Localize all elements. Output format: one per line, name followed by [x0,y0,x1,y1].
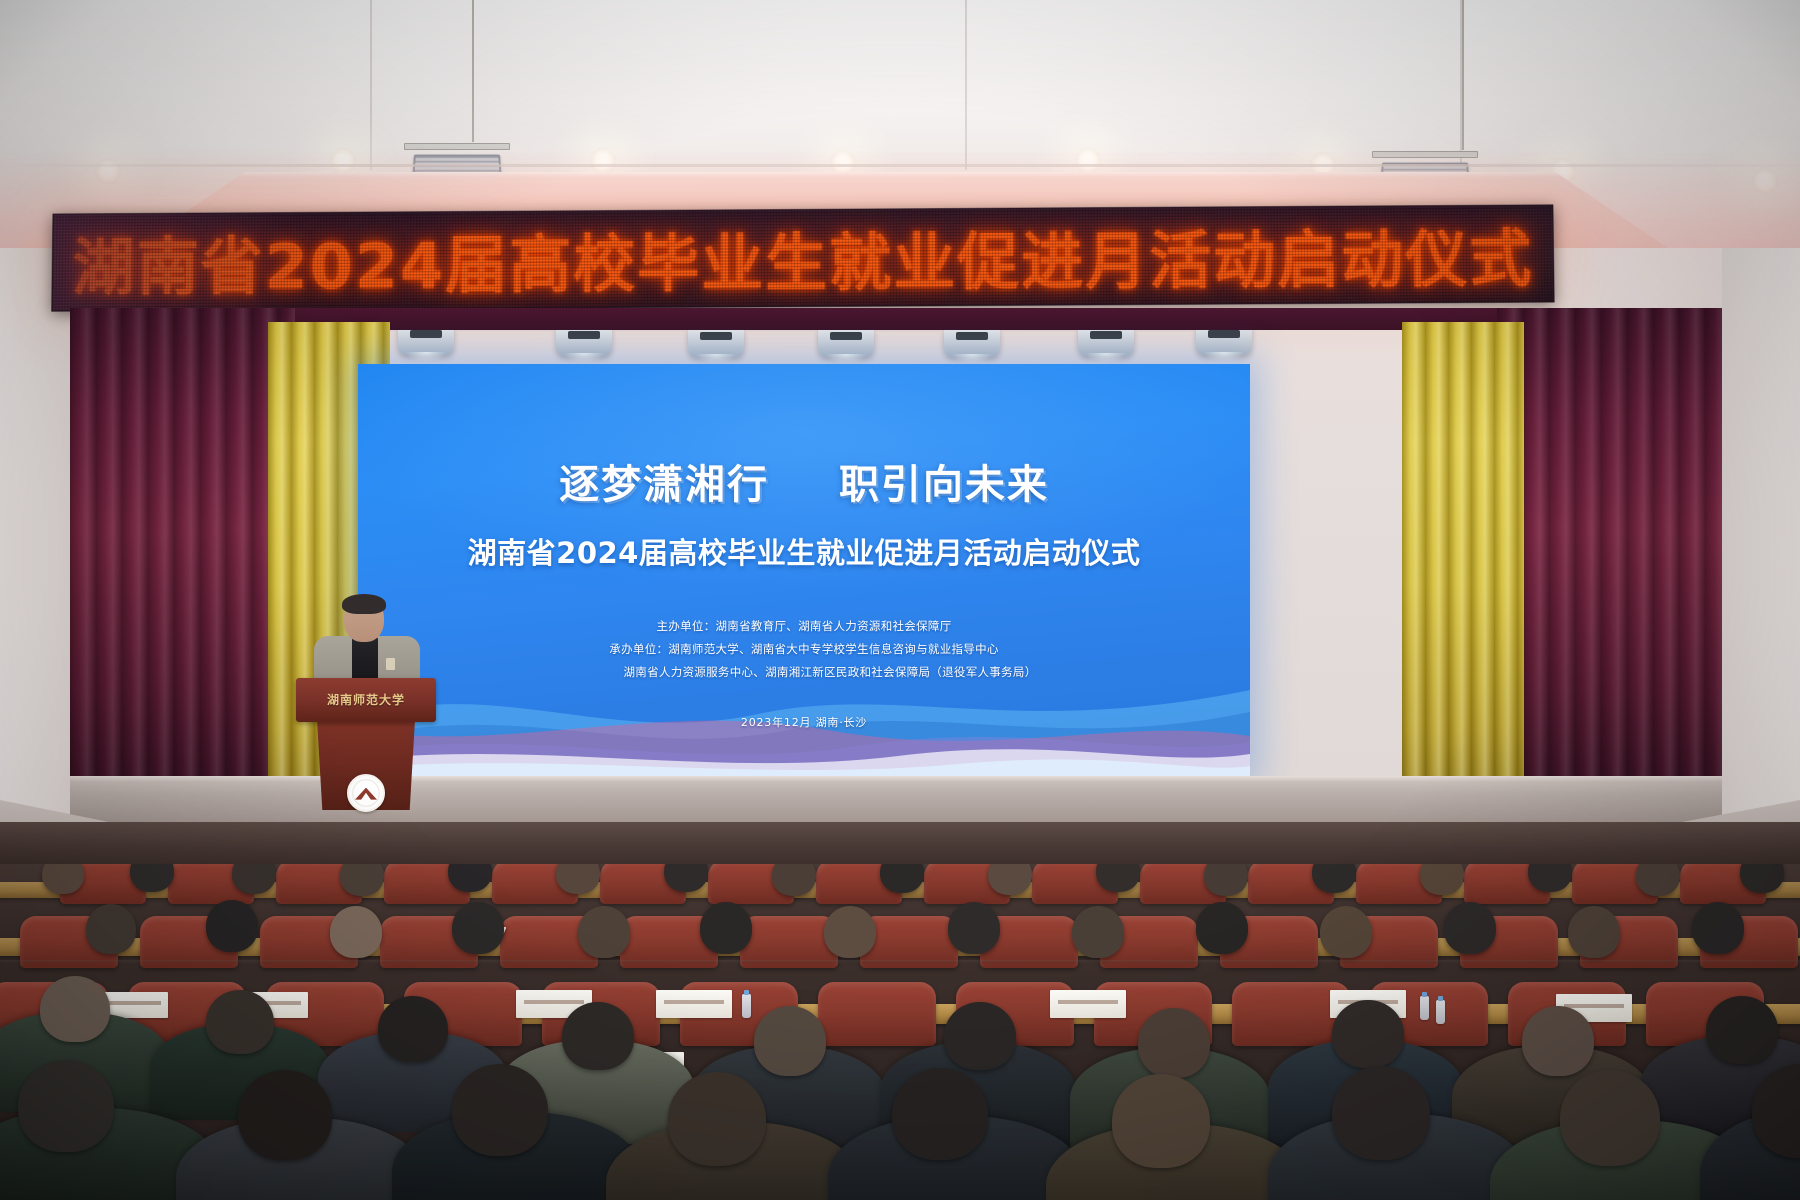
audience-head [578,906,630,958]
led-banner-text: 湖南省2024届高校毕业生就业促进月活动启动仪式 [72,209,1534,308]
auditorium-photo: 湖南省2024届高校毕业生就业促进月活动启动仪式 逐梦潇湘行 职引向未来 [0,0,1800,1200]
audience-head [86,904,136,954]
stage-light [818,327,874,357]
audience-head [1444,902,1496,954]
audience-head [1204,864,1248,896]
screen-content: 逐梦潇湘行 职引向未来 湖南省2024届高校毕业生就业促进月活动启动仪式 主办单… [358,364,1250,776]
ceiling-panel-edge [0,164,1800,167]
audience-head [948,902,1000,954]
audience-head [700,902,752,954]
podium: 湖南师范大学 [296,678,436,810]
vent-hanger-rod [472,0,474,142]
stage-light [1078,326,1134,356]
audience-head [1522,1006,1594,1076]
water-bottle [1420,996,1429,1020]
audience-head [1072,906,1124,958]
speaker-badge [386,658,395,670]
slogan-left: 逐梦潇湘行 [559,462,769,508]
audience-head [452,1064,548,1156]
vent-hanger-rod [1462,0,1464,150]
stage-curtain-outer-left [70,308,295,800]
audience-head [944,1002,1016,1070]
audience-head [238,1070,332,1160]
stage-light [556,326,612,356]
audience-head [206,900,258,952]
stage-light [688,327,744,357]
audience-head [772,864,816,896]
projection-screen: 逐梦潇湘行 职引向未来 湖南省2024届高校毕业生就业促进月活动启动仪式 主办单… [358,364,1250,776]
audience-head [378,996,448,1062]
screen-subtitle: 湖南省2024届高校毕业生就业促进月活动启动仪式 [468,530,1141,572]
stage-curtain-inner-right [1402,322,1524,800]
audience-head [40,976,110,1042]
slogan-right: 职引向未来 [839,462,1049,508]
organizer-line: 主办单位：湖南省教育厅、湖南省人力资源和社会保障厅 [657,618,952,634]
audience-head [824,906,876,958]
audience-head [1332,1066,1430,1160]
audience-head [1636,864,1680,896]
audience-head [1568,906,1620,958]
seat-name-card [656,990,732,1018]
organizer-line: 承办单位：湖南师范大学、湖南省大中专学校学生信息咨询与就业指导中心 [609,641,998,657]
university-crest-icon [347,774,385,812]
audience-head [1706,996,1778,1064]
audience-head [562,1002,634,1070]
speaker-hair [342,594,386,614]
row-divider [0,960,1800,963]
ceiling-seam [965,0,967,170]
audience-head [452,902,504,954]
audience-head [668,1072,766,1166]
audience-seat [818,982,936,1046]
audience-head [1332,1000,1404,1068]
audience-head [1692,902,1744,954]
audience-head [1320,906,1372,958]
screen-slogan: 逐梦潇湘行 职引向未来 [559,452,1049,510]
audience-head [754,1006,826,1076]
stage-light [944,327,1000,357]
speaker-person [312,596,422,686]
seat-name-card [1050,990,1126,1018]
audience-head [206,990,274,1054]
audience-head [1196,902,1248,954]
led-banner: 湖南省2024届高校毕业生就业促进月活动启动仪式 [51,204,1554,311]
screen-organizer-block: 主办单位：湖南省教育厅、湖南省人力资源和社会保障厅 承办单位：湖南师范大学、湖南… [572,618,1037,680]
organizer-line: 湖南省人力资源服务中心、湖南湘江新区民政和社会保障局（退役军人事务局） [572,664,1037,680]
stage-curtain-outer-right [1497,308,1722,800]
vent-mount-bar [404,143,510,150]
audience-head [892,1068,988,1160]
audience-head [1138,1008,1210,1078]
audience-head [18,1060,114,1152]
audience-head [1560,1070,1660,1166]
water-bottle [742,994,751,1018]
water-bottle [1436,1000,1445,1024]
podium-institution-name: 湖南师范大学 [296,691,436,708]
ceiling-seam [370,0,372,170]
audience-head [330,906,382,958]
audience-head [1112,1074,1210,1168]
audience-head [340,864,384,896]
audience-area: 7 [0,864,1800,1200]
screen-date-location: 2023年12月 湖南·长沙 [741,714,867,730]
